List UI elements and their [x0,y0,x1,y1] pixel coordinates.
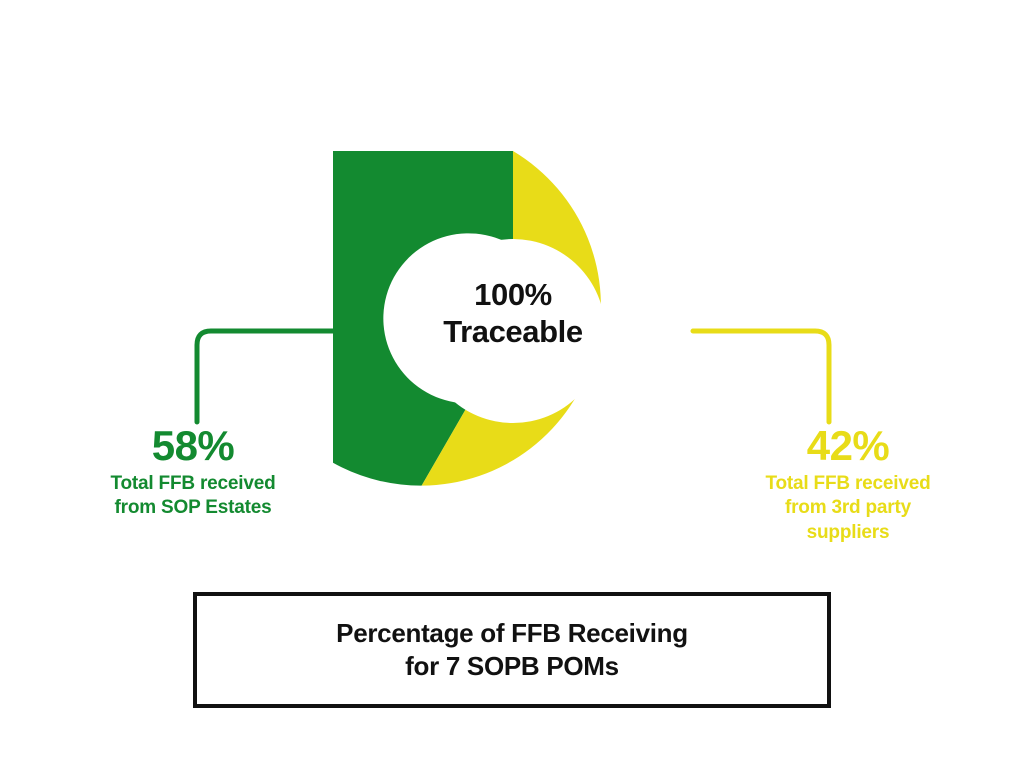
leader-line-right [693,331,829,422]
left-description: Total FFB received from SOP Estates [78,472,308,521]
callout-label-right: 42% Total FFB received from 3rd party su… [733,424,963,545]
right-description-line-3: suppliers [807,522,890,543]
chart-title: Percentage of FFB Receiving for 7 SOPB P… [336,617,688,684]
chart-title-line-1: Percentage of FFB Receiving [336,617,688,650]
donut-chart: 100% Traceable [333,151,693,511]
chart-canvas: 100% Traceable 58% Total FFB received fr… [0,0,1024,768]
left-percent-value: 58% [78,424,308,468]
right-description: Total FFB received from 3rd party suppli… [733,472,963,545]
chart-title-line-2: for 7 SOPB POMs [336,650,688,683]
right-description-line-1: Total FFB received [766,473,931,494]
left-description-line-1: Total FFB received [111,473,276,494]
donut-center-percent: 100% [421,277,605,314]
right-percent-value: 42% [733,424,963,468]
donut-center-label: 100% Traceable [421,277,605,350]
donut-center-caption: Traceable [421,314,605,351]
leader-line-left [197,331,333,422]
callout-label-left: 58% Total FFB received from SOP Estates [78,424,308,521]
left-description-line-2: from SOP Estates [115,497,272,518]
right-description-line-2: from 3rd party [785,497,911,518]
chart-title-box: Percentage of FFB Receiving for 7 SOPB P… [193,592,831,708]
